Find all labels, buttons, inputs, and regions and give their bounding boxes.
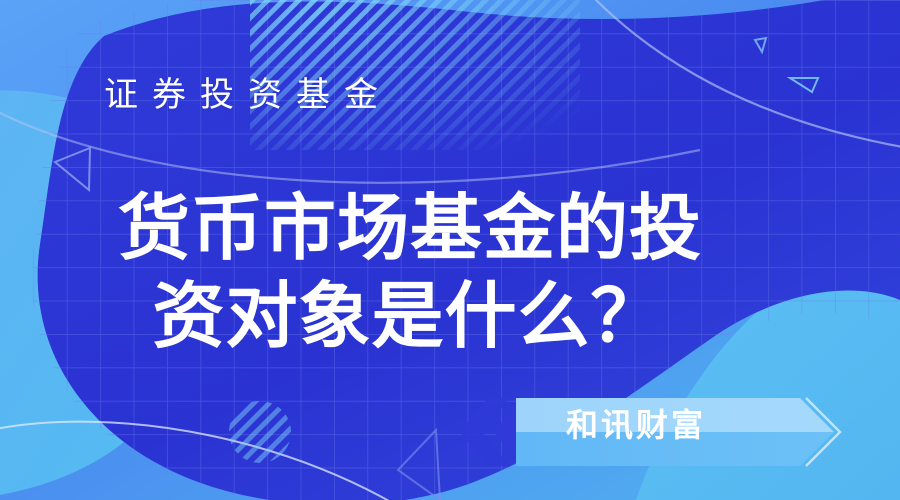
page-subtitle: 证券投资基金 — [104, 78, 392, 112]
page-title: 货币市场基金的投 资对象是什么？ — [118, 186, 738, 362]
poster-canvas: 证券投资基金 货币市场基金的投 资对象是什么？ 和讯财富 — [0, 0, 900, 500]
page-title-line-2: 资对象是什么？ — [118, 274, 738, 362]
brand-badge-label: 和讯财富 — [566, 409, 706, 441]
page-title-line-1: 货币市场基金的投 — [118, 186, 738, 274]
